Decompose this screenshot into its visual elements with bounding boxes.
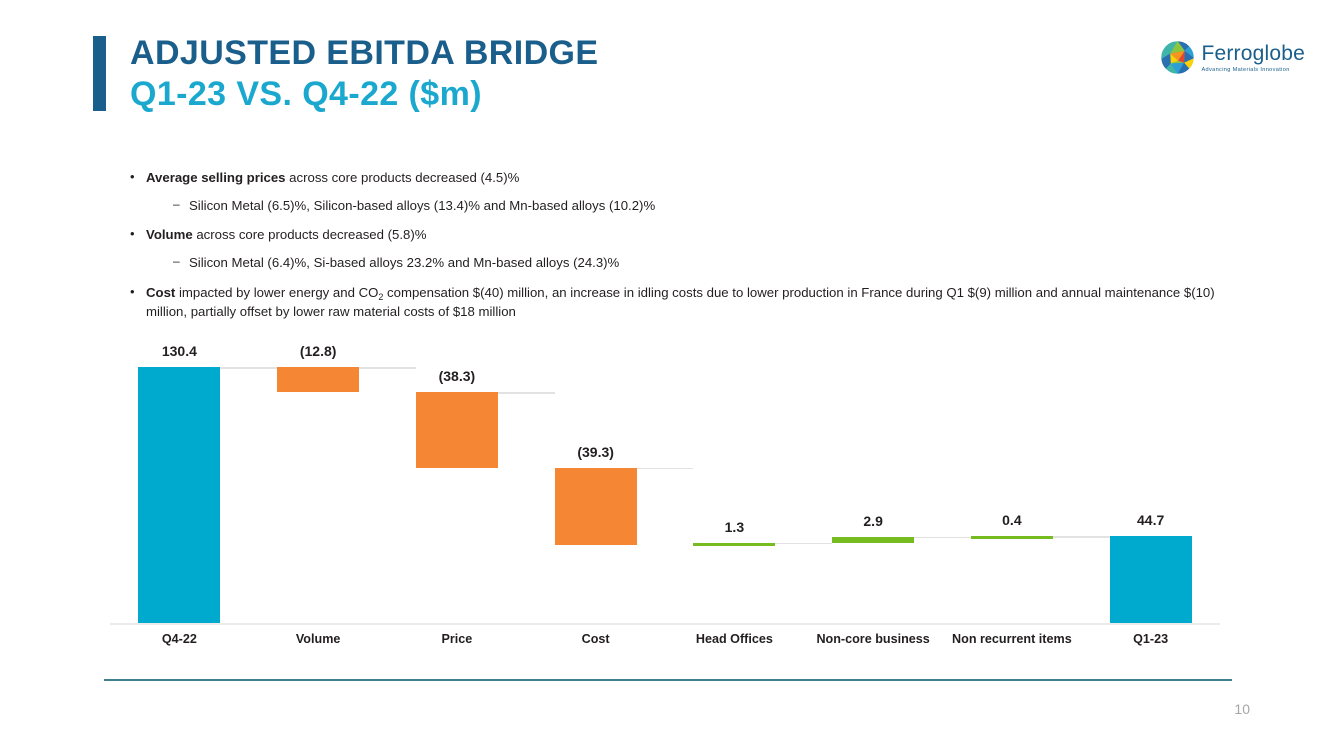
bullet-marker: • xyxy=(130,283,146,302)
sub-bullet-marker: – xyxy=(173,253,189,270)
bullet-bold-lead: Cost xyxy=(146,285,175,300)
category-label: Non recurrent items xyxy=(946,632,1079,648)
bullet-text: Volume across core products decreased (5… xyxy=(146,225,426,244)
waterfall-connector xyxy=(220,367,277,369)
waterfall-bar xyxy=(832,537,914,543)
bar-value-label: (39.3) xyxy=(536,444,656,460)
ferroglobe-polygon-mark xyxy=(1161,41,1194,74)
waterfall-connector xyxy=(637,468,694,470)
footer-divider xyxy=(104,679,1232,681)
category-label: Price xyxy=(391,632,524,648)
co2-subscript: 2 xyxy=(378,292,383,302)
bullet-text: Cost impacted by lower energy and CO2 co… xyxy=(146,283,1250,321)
waterfall-bar xyxy=(277,367,359,392)
page-subtitle: Q1-23 VS. Q4-22 ($m) xyxy=(130,77,598,112)
logo-wordmark: Ferroglobe xyxy=(1201,43,1305,64)
bullet-rest: across core products decreased (5.8)% xyxy=(193,227,427,242)
waterfall-plot-area: 130.4(12.8)(38.3)(39.3)1.32.90.444.7 xyxy=(110,348,1220,624)
bar-value-label: 0.4 xyxy=(952,512,1072,528)
logo-text-wrap: Ferroglobe Advancing Materials Innovatio… xyxy=(1201,43,1305,73)
waterfall-bar xyxy=(1110,536,1192,624)
category-label: Volume xyxy=(252,632,385,648)
title-text-wrap: ADJUSTED EBITDA BRIDGE Q1-23 VS. Q4-22 (… xyxy=(130,36,598,111)
sub-bullet-marker: – xyxy=(173,196,189,213)
adjusted-ebitda-waterfall-chart: 130.4(12.8)(38.3)(39.3)1.32.90.444.7 Q4-… xyxy=(110,348,1220,648)
waterfall-bar xyxy=(693,543,775,546)
bullet-item: •Average selling prices across core prod… xyxy=(130,168,1250,187)
bullet-text: Silicon Metal (6.5)%, Silicon-based allo… xyxy=(189,196,655,215)
bullet-bold-lead: Volume xyxy=(146,227,193,242)
ferroglobe-logo: Ferroglobe Advancing Materials Innovatio… xyxy=(1161,41,1305,74)
waterfall-bar xyxy=(416,392,498,468)
bullet-item: •Cost impacted by lower energy and CO2 c… xyxy=(130,283,1250,321)
bar-value-label: 130.4 xyxy=(119,343,239,359)
bullet-marker: • xyxy=(130,168,146,187)
bullet-text: Average selling prices across core produ… xyxy=(146,168,519,187)
waterfall-connector xyxy=(914,537,971,539)
logo-tagline: Advancing Materials Innovation xyxy=(1201,67,1305,73)
category-label: Cost xyxy=(529,632,662,648)
waterfall-bar xyxy=(971,536,1053,539)
bar-value-label: 1.3 xyxy=(674,519,794,535)
bullet-rest: Silicon Metal (6.4)%, Si-based alloys 23… xyxy=(189,255,619,270)
bullet-bold-lead: Average selling prices xyxy=(146,170,286,185)
category-label: Head Offices xyxy=(668,632,801,648)
category-label: Q1-23 xyxy=(1084,632,1217,648)
slide-title-block: ADJUSTED EBITDA BRIDGE Q1-23 VS. Q4-22 (… xyxy=(93,36,598,111)
bar-value-label: 44.7 xyxy=(1091,512,1211,528)
chart-baseline-axis xyxy=(110,623,1220,625)
bar-value-label: 2.9 xyxy=(813,513,933,529)
category-label: Q4-22 xyxy=(113,632,246,648)
sub-bullet-item: –Silicon Metal (6.5)%, Silicon-based all… xyxy=(173,196,1250,215)
waterfall-bar xyxy=(138,367,220,624)
page-title: ADJUSTED EBITDA BRIDGE xyxy=(130,36,598,71)
bullet-text: Silicon Metal (6.4)%, Si-based alloys 23… xyxy=(189,253,619,272)
bullet-marker: • xyxy=(130,225,146,244)
waterfall-connector xyxy=(775,543,832,545)
title-accent-bar xyxy=(93,36,106,111)
waterfall-connector xyxy=(1053,536,1110,538)
sub-bullet-item: –Silicon Metal (6.4)%, Si-based alloys 2… xyxy=(173,253,1250,272)
bullet-list: •Average selling prices across core prod… xyxy=(130,168,1250,330)
category-label: Non-core business xyxy=(807,632,940,648)
bar-value-label: (12.8) xyxy=(258,343,378,359)
bullet-rest: Silicon Metal (6.5)%, Silicon-based allo… xyxy=(189,198,655,213)
bullet-rest: across core products decreased (4.5)% xyxy=(286,170,520,185)
waterfall-connector xyxy=(498,392,555,394)
waterfall-bar xyxy=(555,468,637,545)
chart-category-axis-labels: Q4-22VolumePriceCostHead OfficesNon-core… xyxy=(110,632,1220,678)
page-number: 10 xyxy=(1234,701,1250,717)
bar-value-label: (38.3) xyxy=(397,368,517,384)
bullet-item: •Volume across core products decreased (… xyxy=(130,225,1250,244)
